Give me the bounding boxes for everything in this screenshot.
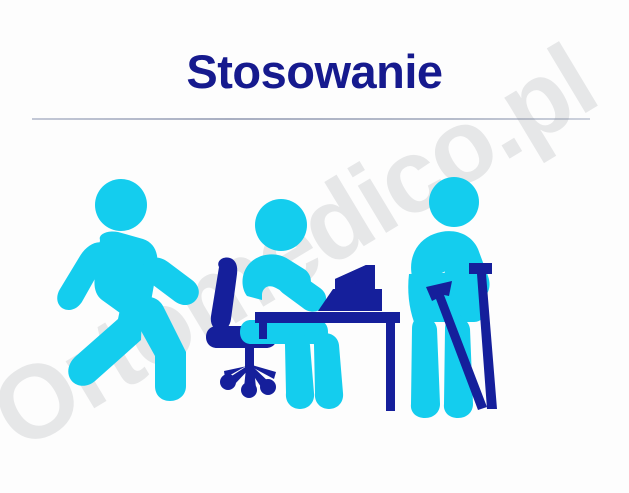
crutch-person-leg-back [411, 317, 440, 418]
slide-canvas: Ortomedico.pl Stosowanie [0, 0, 629, 493]
walking-person-back-leg [68, 299, 142, 386]
walking-person-head [95, 179, 147, 231]
chair-caster-right [260, 379, 276, 395]
seated-person-head [255, 199, 307, 251]
seated-person-leg-back [285, 333, 314, 409]
chair-backrest [211, 258, 237, 331]
desk-top [255, 312, 400, 323]
desk-leg-left [259, 321, 267, 339]
crutch-person-head [429, 177, 479, 227]
desk-leg-right [386, 321, 395, 411]
walking-person-front-leg [132, 297, 186, 401]
chair-caster-center [241, 382, 257, 398]
person-at-desk-figure [206, 199, 400, 411]
chair-caster-left [220, 374, 236, 390]
laptop-base [318, 289, 382, 311]
crutch-person [408, 177, 489, 418]
seated-person-arm [277, 272, 326, 311]
person-with-crutches-figure [408, 177, 497, 418]
walking-person-figure [57, 179, 199, 401]
seated-person-leg-front [314, 333, 343, 409]
illustration-group [0, 0, 629, 493]
